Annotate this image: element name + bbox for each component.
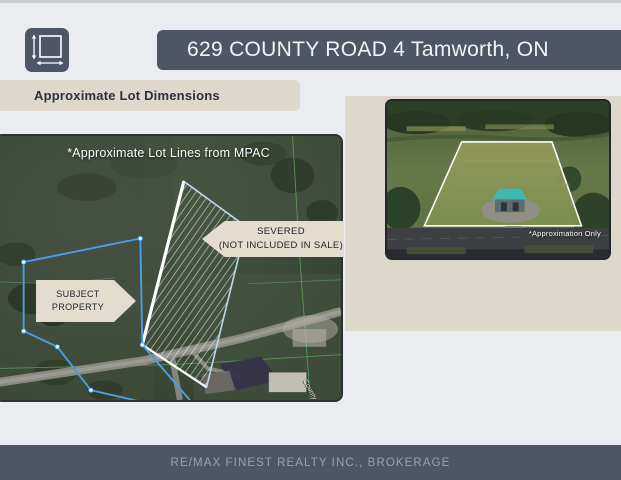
severed-line2: (NOT INCLUDED IN SALE) xyxy=(218,239,344,253)
subject-property-line2: PROPERTY xyxy=(36,301,120,314)
property-title-bar: 629 COUNTY ROAD 4 Tamworth, ON xyxy=(157,30,621,70)
aerial-disclaimer: *Approximation Only xyxy=(529,229,601,238)
brokerage-name: RE/MAX FINEST REALTY INC., BROKERAGE xyxy=(171,457,451,469)
aerial-photo[interactable]: *Approximation Only xyxy=(385,99,611,260)
severed-line1: SEVERED xyxy=(218,225,344,239)
section-subtitle-bar: Approximate Lot Dimensions xyxy=(0,80,300,111)
section-subtitle: Approximate Lot Dimensions xyxy=(34,88,220,103)
map-disclaimer: *Approximate Lot Lines from MPAC xyxy=(0,146,341,160)
lot-lines-map[interactable]: *Approximate Lot Lines from MPAC County … xyxy=(0,134,343,402)
top-divider xyxy=(0,0,621,3)
subject-property-line1: SUBJECT xyxy=(36,288,120,301)
map-imagery xyxy=(0,136,341,400)
slide-root: 629 COUNTY ROAD 4 Tamworth, ON Approxima… xyxy=(0,0,621,480)
lot-dimensions-icon xyxy=(25,28,69,72)
footer-bar: RE/MAX FINEST REALTY INC., BROKERAGE xyxy=(0,445,621,480)
severed-parcel-callout: SEVERED (NOT INCLUDED IN SALE) xyxy=(202,221,344,257)
page-title: 629 COUNTY ROAD 4 Tamworth, ON xyxy=(187,38,549,62)
